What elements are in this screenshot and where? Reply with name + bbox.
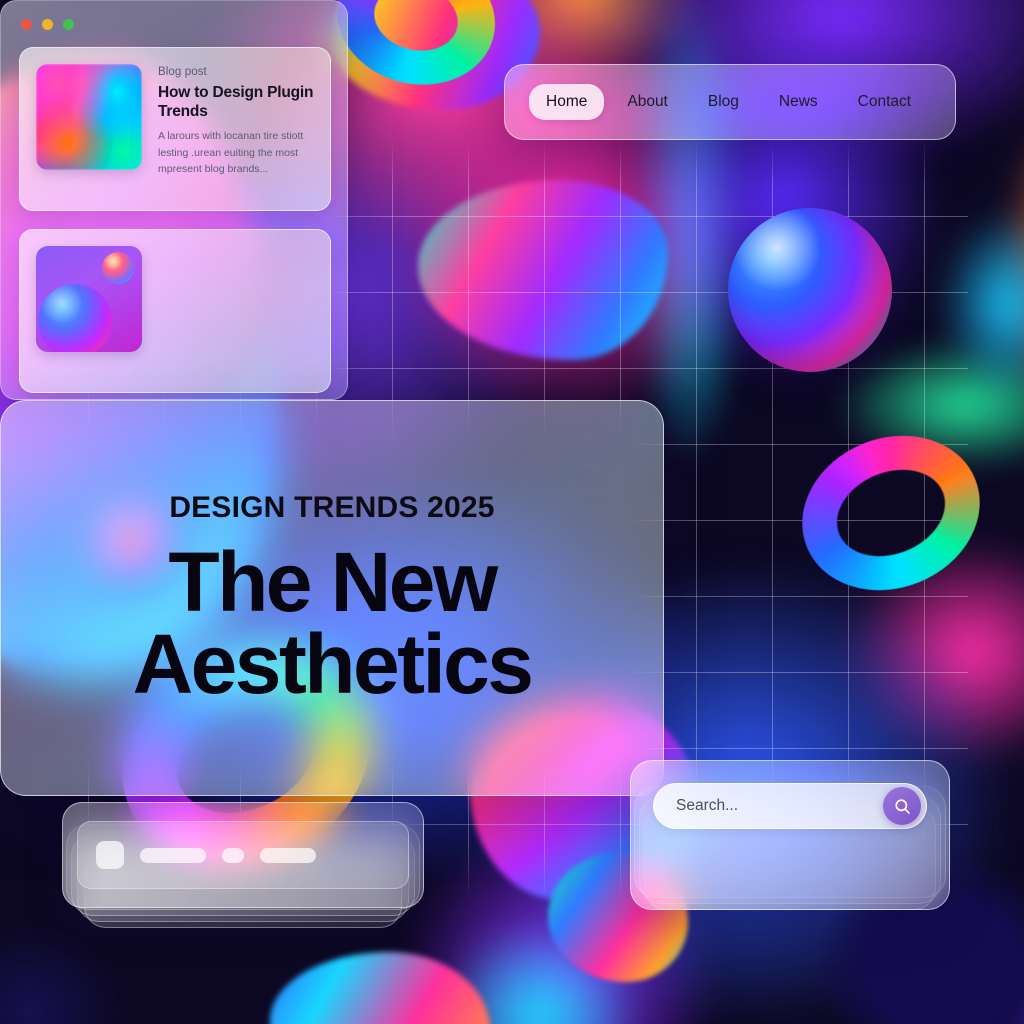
search-panel: Search... — [630, 760, 950, 910]
toolbar-dot-placeholder[interactable] — [222, 848, 244, 863]
toolbar-square-placeholder[interactable] — [96, 841, 124, 869]
nav-item-news[interactable]: News — [762, 84, 835, 120]
sphere-large-icon — [728, 208, 892, 372]
traffic-lights — [21, 19, 74, 30]
nav-item-blog[interactable]: Blog — [691, 84, 756, 120]
search-icon — [893, 797, 912, 816]
hero-title: The New Aesthetics — [133, 541, 532, 706]
thumb-sphere-small-icon — [102, 252, 134, 284]
list-item[interactable] — [19, 229, 331, 393]
post-text-block: Blog post How to Design Plugin Trends A … — [158, 64, 314, 194]
poster-canvas: Blog post How to Design Plugin Trends A … — [0, 0, 1024, 1024]
toolbar-panel — [62, 802, 424, 908]
sphere-gradient-icon — [36, 246, 142, 352]
post-thumbnail — [36, 246, 142, 352]
liquid-gradient-icon — [36, 64, 142, 170]
thumb-sphere-large-icon — [38, 284, 112, 352]
post-thumbnail — [36, 64, 142, 170]
minimize-icon[interactable] — [42, 19, 53, 30]
hero-card: DESIGN TRENDS 2025 The New Aesthetics — [0, 400, 664, 796]
post-title: How to Design Plugin Trends — [158, 83, 314, 121]
navigation-bar: Home About Blog News Contact — [504, 64, 956, 140]
toolbar-widget-stack — [62, 802, 424, 962]
search-panel-stack: Search... — [630, 760, 950, 960]
nav-item-contact[interactable]: Contact — [841, 84, 928, 120]
close-icon[interactable] — [21, 19, 32, 30]
nav-item-home[interactable]: Home — [529, 84, 604, 120]
hero-title-line-1: The New — [133, 541, 532, 623]
search-button[interactable] — [883, 787, 921, 825]
list-item[interactable]: Blog post How to Design Plugin Trends A … — [19, 47, 331, 211]
search-placeholder: Search... — [676, 797, 883, 815]
browser-window[interactable]: Blog post How to Design Plugin Trends A … — [0, 0, 348, 400]
maximize-icon[interactable] — [63, 19, 74, 30]
nav-item-about[interactable]: About — [610, 84, 685, 120]
toolbar-inner — [77, 821, 409, 889]
post-body: A larours with locanan tire stiott lesti… — [158, 128, 314, 177]
toolbar-pill-large-placeholder[interactable] — [140, 848, 206, 863]
search-input[interactable]: Search... — [653, 783, 927, 829]
toolbar-pill-medium-placeholder[interactable] — [260, 848, 316, 863]
post-text-block — [158, 246, 314, 376]
post-eyebrow: Blog post — [158, 66, 314, 78]
hero-eyebrow: DESIGN TRENDS 2025 — [169, 491, 494, 525]
hero-title-line-2: Aesthetics — [133, 623, 532, 705]
